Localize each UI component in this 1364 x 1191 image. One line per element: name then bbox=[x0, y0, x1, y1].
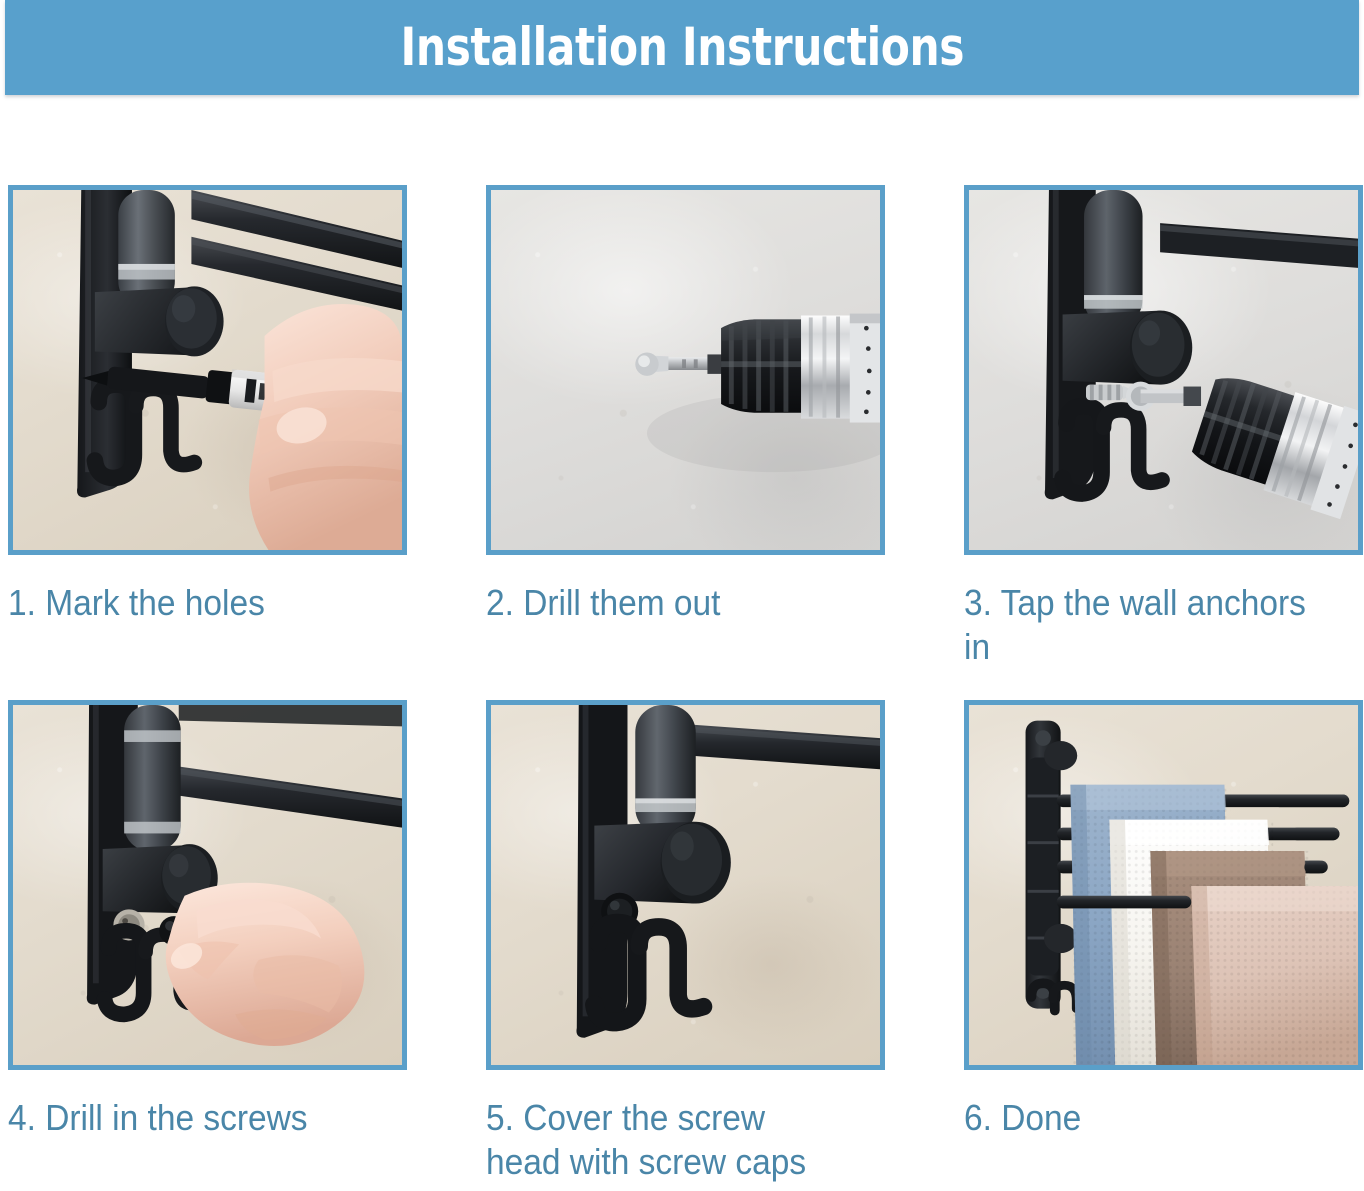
steps-grid: 1. Mark the holes bbox=[8, 185, 1364, 1190]
step-3-caption: 3. Tap the wall anchors in bbox=[964, 581, 1335, 669]
step-1: 1. Mark the holes bbox=[8, 185, 407, 700]
step-1-photo-frame bbox=[8, 185, 407, 555]
step-6-photo-frame bbox=[964, 700, 1363, 1070]
step-5-caption: 5. Cover the screw head with screw caps bbox=[486, 1096, 857, 1184]
finished-rack-illustration bbox=[969, 705, 1358, 1065]
mark-holes-illustration bbox=[13, 190, 402, 550]
installation-instructions-page: Installation Instructions bbox=[0, 0, 1364, 1191]
step-2-caption: 2. Drill them out bbox=[486, 581, 857, 625]
step-4-photo-frame bbox=[8, 700, 407, 1070]
header-banner: Installation Instructions bbox=[5, 0, 1359, 95]
step-2: 2. Drill them out bbox=[486, 185, 885, 700]
step-2-photo bbox=[491, 190, 880, 550]
drill-illustration bbox=[491, 190, 880, 550]
step-5: 5. Cover the screw head with screw caps bbox=[486, 700, 885, 1190]
step-6: 6. Done bbox=[964, 700, 1363, 1190]
step-3-photo-frame bbox=[964, 185, 1363, 555]
step-6-photo bbox=[969, 705, 1358, 1065]
step-6-caption: 6. Done bbox=[964, 1096, 1335, 1140]
step-1-caption: 1. Mark the holes bbox=[8, 581, 379, 625]
steps-row-1: 1. Mark the holes bbox=[8, 185, 1364, 700]
step-2-photo-frame bbox=[486, 185, 885, 555]
step-1-photo bbox=[13, 190, 402, 550]
step-3: 3. Tap the wall anchors in bbox=[964, 185, 1363, 700]
screw-cap-illustration bbox=[13, 705, 402, 1065]
tap-anchors-illustration bbox=[969, 190, 1358, 550]
step-4-photo bbox=[13, 705, 402, 1065]
steps-row-2: 4. Drill in the screws bbox=[8, 700, 1364, 1190]
step-5-photo bbox=[491, 705, 880, 1065]
page-title: Installation Instructions bbox=[400, 21, 964, 74]
step-5-photo-frame bbox=[486, 700, 885, 1070]
step-4-caption: 4. Drill in the screws bbox=[8, 1096, 379, 1140]
step-3-photo bbox=[969, 190, 1358, 550]
capped-bracket-illustration bbox=[491, 705, 880, 1065]
step-4: 4. Drill in the screws bbox=[8, 700, 407, 1190]
